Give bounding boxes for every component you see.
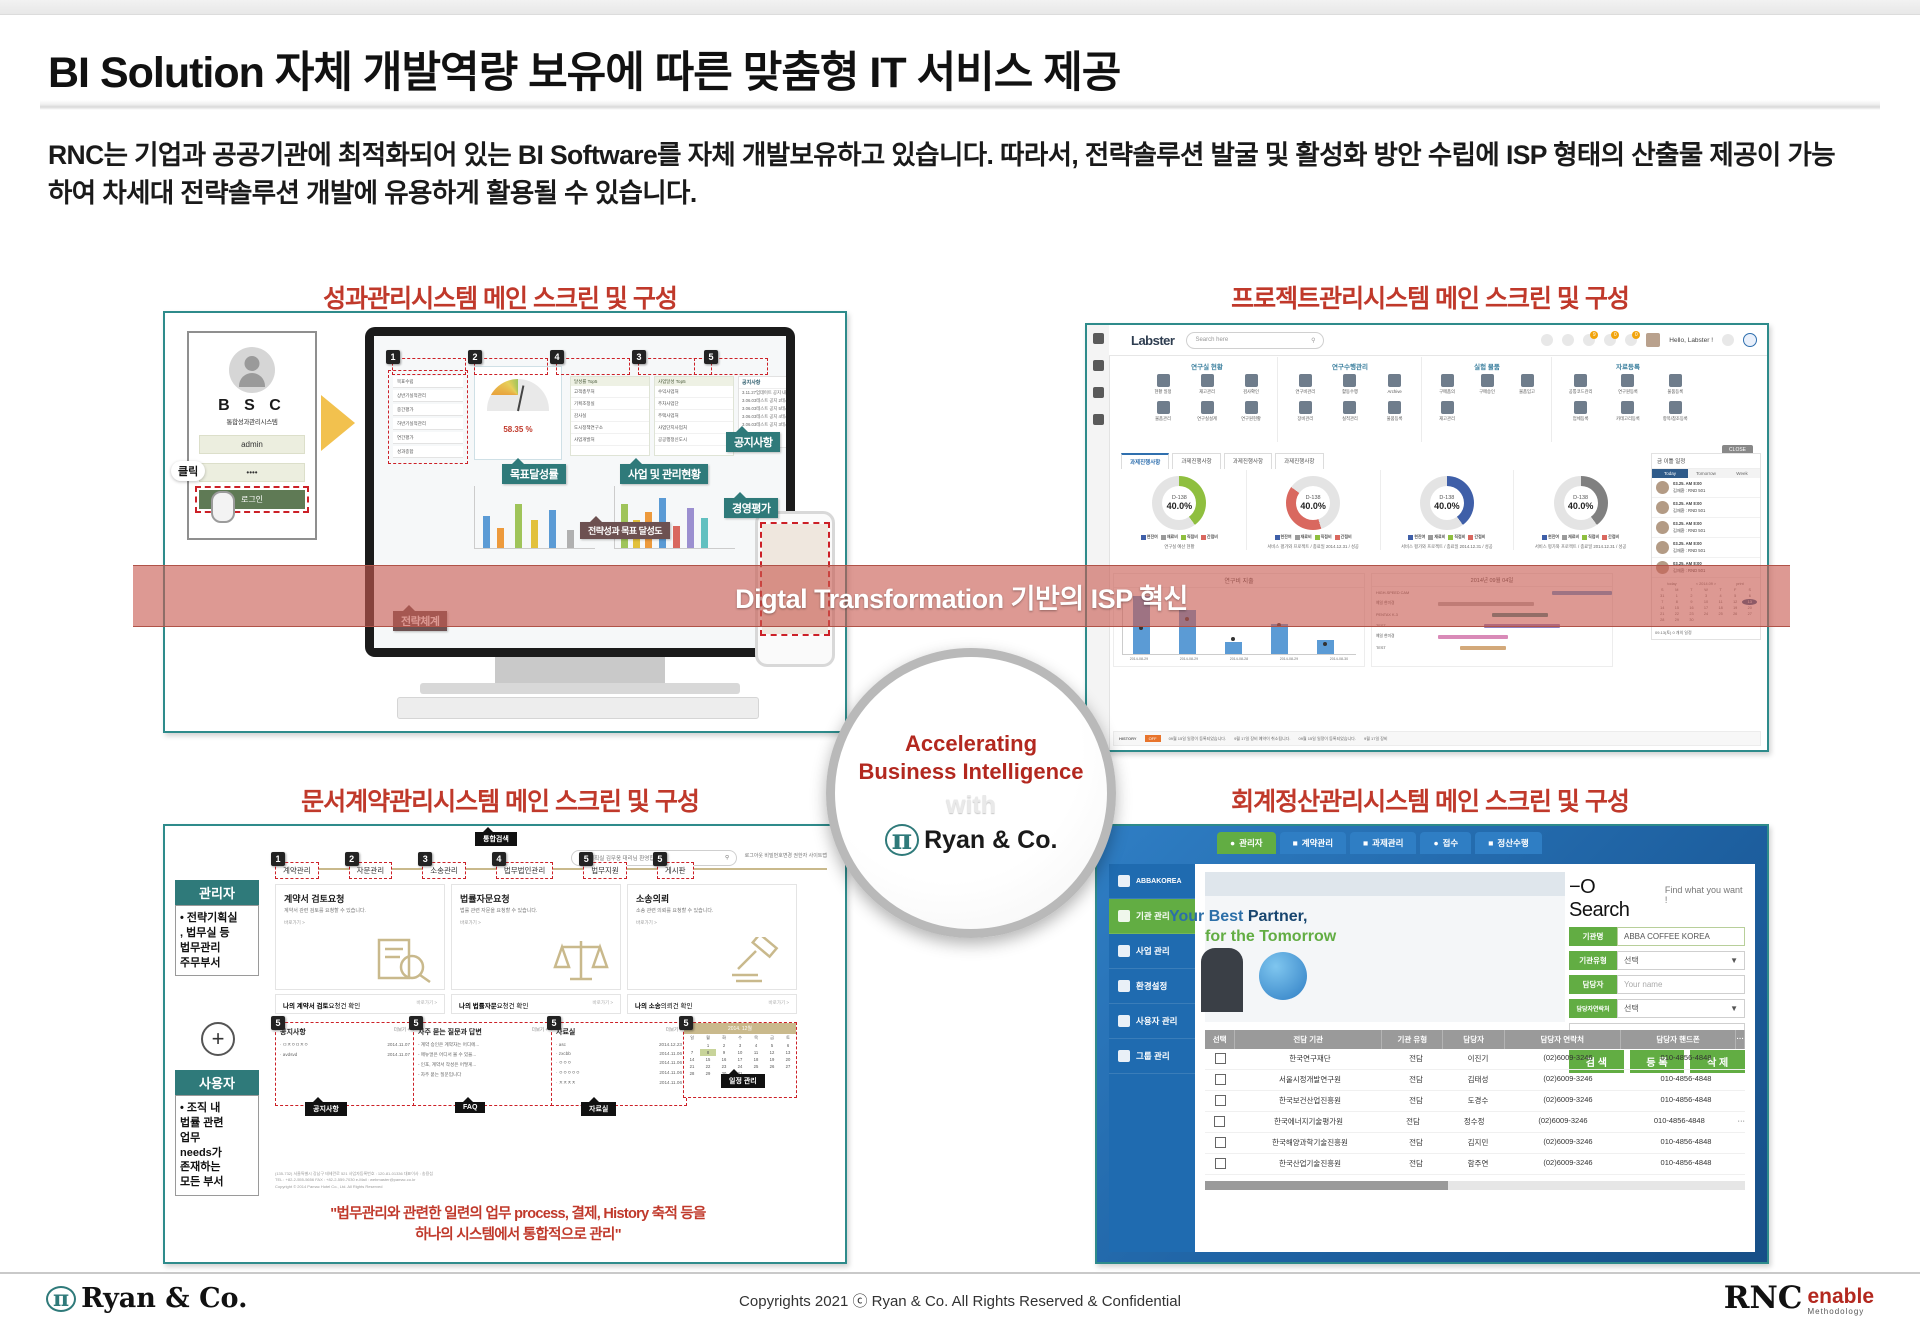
flow-arrow-icon <box>321 395 355 451</box>
tube-icon <box>1245 374 1258 387</box>
org-icon <box>1118 910 1130 922</box>
tab-progress-2[interactable]: 과제진행사항 <box>1172 453 1220 469</box>
cart-icon[interactable] <box>1562 334 1574 346</box>
badge-with: with <box>946 791 996 820</box>
top-tabs[interactable]: ●관리자 ■계약관리 ■과제관리 ●접수 ■정산수행 <box>1217 832 1542 854</box>
badge-count: 0 <box>1632 331 1640 339</box>
nav-item[interactable]: 성과종합 <box>393 446 463 458</box>
plus-icon: + <box>201 1022 235 1056</box>
schedule-item[interactable]: 03.25. AM 8:00김재환 : RND 501 <box>1652 538 1760 558</box>
truck-icon <box>1521 374 1534 387</box>
badge-line1: Accelerating <box>905 731 1037 756</box>
legend-label: 간접비 <box>1474 534 1485 540</box>
center-badge: Accelerating Business Intelligence with … <box>826 648 1116 938</box>
service-card-advice[interactable]: 법률자문요청 법률 관련 자문을 요청할 수 있습니다. 바로가기 > <box>451 884 621 990</box>
clock-icon[interactable]: 9 <box>1583 334 1595 346</box>
card-more[interactable]: 바로가기 > <box>452 914 620 926</box>
menu-item[interactable]: 구매품의 <box>1430 374 1464 395</box>
person-icon <box>1343 374 1356 387</box>
service-card-litigation[interactable]: 소송의뢰 소송 관련 의뢰를 요청할 수 있습니다. 바로가기 > <box>627 884 797 990</box>
top5-table-b: 사업달성 Top5 수익사업처 주차사업단 주택사업처 사업단지사업처 공공행정… <box>654 376 734 456</box>
methodology-text: Methodology <box>1807 1307 1864 1316</box>
tag-schedule-mgmt: 일정 관리 <box>721 1074 765 1088</box>
notice-row[interactable]: 3.06.03테스트 공지 4테스트 공지 4변합니다. <box>739 413 786 421</box>
field-label: 담당자 <box>1569 975 1617 994</box>
card-desc: 법률 관련 자문을 요청할 수 있습니다. <box>452 907 620 914</box>
category-icon <box>1621 401 1634 414</box>
menu-item[interactable]: 물품등록 <box>1378 401 1412 422</box>
tab-reception[interactable]: ●접수 <box>1420 832 1471 854</box>
notice-row[interactable]: 3.11.27업데이트 공지 내용을 변경한 입니다. <box>739 389 786 397</box>
contact-select[interactable]: 선택▼ <box>1617 999 1745 1018</box>
menu-label: 카테고리등록 <box>1611 416 1645 422</box>
building-icon <box>1245 401 1258 414</box>
notice-title: 공지사항 <box>739 377 786 389</box>
search-field-manager[interactable]: 담당자 Your name <box>1569 975 1745 994</box>
menu-group-lab-status: 연구실 현황 현황 일정 재고관리 검사확인 물품관리 연구실설계 연구원현황 <box>1137 357 1278 442</box>
step-badge: 4 <box>492 852 506 866</box>
admin-box: 관리자 • 전략기획실 , 법무실 등 법무관리 주무부서 <box>175 880 259 976</box>
screenshot-accounting-system: ●관리자 ■계약관리 ■과제관리 ●접수 ■정산수행 ABBAKOREA 기관 … <box>1095 824 1769 1264</box>
person-add-icon <box>1621 374 1634 387</box>
footer-copyright: Copyrights 2021 ⓒ Ryan & Co. All Rights … <box>0 1290 1920 1311</box>
tag-resources: 자료실 <box>581 1102 616 1116</box>
menu-item[interactable]: 물품등록 <box>1658 374 1692 395</box>
menu-label: 연구실설계 <box>1190 416 1224 422</box>
kpi-gauge-widget: 58.35 % <box>474 366 562 460</box>
summary-quote: "법무관리와 관련한 일련의 업무 process, 결제, History 축… <box>205 1204 831 1246</box>
top-strip <box>0 0 1920 15</box>
item-time: 03.25. AM 8:00 <box>1673 541 1702 546</box>
menu-label: 구매승인 <box>1470 389 1504 395</box>
gantt-row: 예일 현미경 <box>1372 631 1612 642</box>
menu-item[interactable]: 물품관리 <box>1146 401 1180 422</box>
tag-notice: 공지사항 <box>305 1102 347 1116</box>
title-divider <box>40 100 1880 110</box>
notice-row[interactable]: 3.06.03테스트 공지 2테스트 공지 2변합니다. <box>739 397 786 405</box>
doc-nav[interactable]: 1계약관리 2자문관리 3소송관리 4법무법인관리 5법무지원 5게시판 <box>275 862 694 879</box>
app-header: Labster Search here ⚲ 9 0 0 Hello, Labst… <box>1109 325 1767 356</box>
globe-icon <box>1259 952 1307 1000</box>
item-time: 03.25. AM 8:00 <box>1673 481 1702 486</box>
x-tick: 2014-08-30 <box>1330 657 1348 661</box>
username-input[interactable]: admin <box>199 435 305 454</box>
donut-legend: 현잔여 재료비 직접비 간접비 <box>1247 534 1380 540</box>
admin-box-body: • 전략기획실 , 법무실 등 법무관리 주무부서 <box>175 905 259 976</box>
chevron-down-icon[interactable] <box>1722 334 1734 346</box>
legend-label: 간접비 <box>1341 534 1352 540</box>
nav-slot[interactable]: 3소송관리 <box>422 862 466 879</box>
clock-icon <box>1343 401 1356 414</box>
history-toggle[interactable]: OFF <box>1145 735 1161 742</box>
list-item[interactable]: · ㅇㅇㅇ2014.11.06 <box>556 1058 682 1068</box>
table-row[interactable]: 한국에너지기술평가원전담정수정(02)6009-3246010-4856-484… <box>1205 1112 1745 1133</box>
admin-box-title: 관리자 <box>175 880 259 905</box>
nav-item[interactable]: 목표수립 <box>393 376 463 388</box>
menu-item[interactable]: 재고관리 <box>1430 401 1464 422</box>
history-bar: HISTORY OFF 09월 15일 일정이 등록되었습니다. 9월 17일 … <box>1113 731 1761 746</box>
group-title: 연구수행관리 <box>1279 361 1421 371</box>
legend-label: 재료비 <box>1167 534 1178 540</box>
chevron-down-icon[interactable]: ▼ <box>1730 956 1738 965</box>
legend-label: 현잔여 <box>1147 534 1158 540</box>
schedule-tabs[interactable]: Today Tomorrow Week <box>1652 469 1760 478</box>
sidebar-item-account[interactable]: ABBAKOREA <box>1109 864 1195 899</box>
bsc-brand-sub: 통합성과관리시스템 <box>189 416 315 426</box>
left-rail[interactable] <box>1087 325 1110 750</box>
tag-mgmt-eval: 경영평가 <box>724 498 778 518</box>
calendar-dow-row: 일월 화수 목금 토 <box>684 1034 796 1042</box>
table-row: 주택사업처 <box>655 410 733 422</box>
list-item[interactable]: - 인포, 계약서 작성은 어떻게... <box>418 1060 548 1070</box>
left-nav-list[interactable]: 목표수립 상반기실적관리 중간평가 하반기실적관리 연간평가 성과종합 <box>388 370 468 464</box>
horizontal-scrollbar[interactable] <box>1205 1181 1745 1190</box>
card-title-bold: 소송 <box>636 894 653 904</box>
table-row: 사업개발처 <box>571 434 649 446</box>
nav-item[interactable]: 상반기실적관리 <box>393 390 463 402</box>
calendar-week[interactable]: 78910111213 <box>684 1049 796 1056</box>
legend-label: 직접비 <box>1588 534 1599 540</box>
home-icon[interactable] <box>1743 333 1757 347</box>
list-item[interactable]: · ㅁㅈㅇㅁㅈㅇ2014.11.07 <box>280 1040 410 1050</box>
cursor-icon <box>211 491 235 523</box>
chevron-down-icon[interactable]: ▼ <box>1730 1004 1738 1013</box>
badge-count: 9 <box>1590 331 1598 339</box>
tab-settlement[interactable]: ■정산수행 <box>1475 832 1541 854</box>
menu-item[interactable]: 연구원현황 <box>1234 401 1268 422</box>
search-field-org[interactable]: 기관명 ABBA COFFEE KOREA <box>1569 927 1745 946</box>
badge-tagline: Accelerating Business Intelligence <box>859 730 1084 785</box>
group-title: 연구실 현황 <box>1137 361 1277 371</box>
row-checkbox[interactable] <box>1214 1116 1225 1127</box>
history-item: 9월 17일 장비 <box>1364 736 1388 742</box>
tab-progress-1[interactable]: 과제진행사항 <box>1121 453 1169 469</box>
bluetooth-icon[interactable] <box>1093 387 1104 398</box>
col-mobile: 담당자 핸드폰 <box>1621 1030 1737 1049</box>
list-more[interactable]: 더보기 + <box>532 1027 548 1037</box>
table-title: 사업달성 Top5 <box>655 377 733 386</box>
org-type-select[interactable]: 선택▼ <box>1617 951 1745 970</box>
avatar-icon <box>229 347 275 393</box>
list-item[interactable]: · zxcbb2014.11.06 <box>556 1049 682 1058</box>
tab-today[interactable]: Today <box>1652 469 1688 478</box>
table-row: 도시정책연구소 <box>571 422 649 434</box>
tab-label: 과제관리 <box>1372 837 1403 849</box>
table-row[interactable]: 서울시정개발연구원전담김태성(02)6009-3246010-4856-4848 <box>1205 1070 1745 1091</box>
field-label: 담당자연락처 <box>1569 999 1617 1018</box>
menu-item[interactable]: 카테고리등록 <box>1611 401 1645 422</box>
tab-label: 접수 <box>1443 837 1459 849</box>
nav-slot[interactable]: 4법무법인관리 <box>496 862 553 879</box>
sidebar-item-business[interactable]: 사업 관리 <box>1109 934 1195 969</box>
col-more: ··· <box>1736 1030 1745 1049</box>
row-checkbox[interactable] <box>1215 1053 1226 1064</box>
donut-caption: 연구실 예산 현황 <box>1113 544 1246 550</box>
gear-icon[interactable] <box>1093 333 1104 344</box>
menu-item[interactable]: 연구원등록 <box>1611 374 1645 395</box>
cup-icon[interactable] <box>1093 414 1104 425</box>
tab-tomorrow[interactable]: Tomorrow <box>1688 469 1724 478</box>
step-badge-5: 5 <box>704 350 718 364</box>
item-who: 김재환 : RND 501 <box>1673 488 1705 493</box>
card-title-light: 요청 <box>328 894 345 904</box>
group-icon <box>1118 1050 1130 1062</box>
donut-card: D-138 40.0% 현잔여 재료비 직접비 간접비 서비스 평가와 프로젝트… <box>1381 470 1515 550</box>
step-badge-2: 2 <box>468 350 482 364</box>
donut-chart: D-138 40.0% <box>1420 476 1474 530</box>
header-actions: 9 0 0 Hello, Labster ! <box>1541 333 1757 347</box>
folder-icon <box>1299 374 1312 387</box>
enable-text: enable <box>1807 1286 1874 1307</box>
mycard-title: 나의 계약서 검토 <box>283 1003 328 1010</box>
row-checkbox[interactable] <box>1215 1137 1226 1148</box>
nav-slot[interactable]: 5게시판 <box>657 862 694 879</box>
menu-item[interactable]: 연구비관리 <box>1288 374 1322 395</box>
search-subtitle: Find what you want ! <box>1665 885 1745 905</box>
screenshot-performance-system: B S C 통합성과관리시스템 admin •••• 로그인 클릭 1 2 4 … <box>163 311 847 733</box>
tab-label: 계약관리 <box>1302 837 1333 849</box>
donut-chart: D-138 40.0% <box>1152 476 1206 530</box>
search-field-contact[interactable]: 담당자연락처 선택▼ <box>1569 999 1745 1018</box>
password-input[interactable]: •••• <box>199 463 305 482</box>
list-resources: 자료실더보기 + · asc2014.12.23 · zxcbb2014.11.… <box>551 1022 687 1106</box>
sidebar-label: 기관 관리 <box>1136 910 1170 922</box>
box-icon <box>1388 401 1401 414</box>
list-item[interactable]: · asc2014.12.23 <box>556 1040 682 1049</box>
step-badge: 1 <box>271 852 285 866</box>
menu-item[interactable]: 연구실설계 <box>1190 401 1224 422</box>
avatar <box>1656 521 1669 534</box>
tab-progress-3[interactable]: 과제진행사항 <box>1224 453 1272 469</box>
footer-divider <box>0 1272 1920 1274</box>
note-add-icon <box>1669 401 1682 414</box>
tools-icon <box>1299 401 1312 414</box>
bell-icon[interactable]: 0 <box>1625 334 1637 346</box>
search-icon[interactable]: ⚲ <box>725 855 729 861</box>
sidebar-label: ABBAKOREA <box>1136 878 1182 885</box>
step-badge: 5 <box>679 1016 693 1030</box>
card-title: 법률자문요청 <box>452 885 620 907</box>
legend-label: 현잔여 <box>1548 534 1559 540</box>
list-item[interactable]: · ㅈㅈㅈㅈ2014.11.06 <box>556 1078 682 1088</box>
donut-legend: 현잔여 재료비 직접비 간접비 <box>1514 534 1647 540</box>
badge-line2: Business Intelligence <box>859 759 1084 784</box>
nav-item[interactable]: 연간평가 <box>393 432 463 444</box>
step-badge: 5 <box>409 1016 423 1030</box>
slide-root: BI Solution 자체 개발역량 보유에 따른 맞춤형 IT 서비스 제공… <box>0 0 1920 1326</box>
search-icon[interactable]: ⚲ <box>1311 337 1315 344</box>
tab-week[interactable]: Week <box>1724 469 1760 478</box>
menu-item[interactable]: Archive <box>1378 374 1412 395</box>
card-desc: 소송 관련 의뢰를 요청할 수 있습니다. <box>628 907 796 914</box>
tab-admin[interactable]: ●관리자 <box>1217 832 1276 854</box>
screenshot-document-system: 통합검색 경영기획실 김무웅 대리님 환영합니다 ⚲ 로그아웃 비밀번호변경 권… <box>163 824 847 1264</box>
list-item[interactable]: · ㅇㅇㅇㅇㅇ2014.11.06 <box>556 1068 682 1078</box>
calendar-week[interactable]: 14151617181920 <box>684 1056 796 1063</box>
list-item[interactable]: - 자주 묻는 질문입니다 <box>418 1070 548 1080</box>
list-more[interactable]: 더보기 + <box>394 1027 410 1037</box>
card-title: 소송의뢰 <box>628 885 796 907</box>
table-row[interactable]: 한국보건산업진흥원전담도경수(02)6009-3246010-4856-4848 <box>1205 1091 1745 1112</box>
col-select: 선택 <box>1205 1030 1235 1049</box>
legend-label: 직접비 <box>1321 534 1332 540</box>
mycard-advice[interactable]: 나의 법률자문요청건 확인 바로가기 > <box>451 994 621 1014</box>
org-name-input[interactable]: ABBA COFFEE KOREA <box>1617 927 1745 946</box>
donut-chart: D-138 40.0% <box>1554 476 1608 530</box>
mycard-litigation[interactable]: 나의 소송의뢰건 확인 바로가기 > <box>627 994 797 1014</box>
menu-label: 연구원현황 <box>1234 416 1268 422</box>
badge-brand-text: Ryan & Co. <box>924 826 1057 855</box>
user-box-body: • 조직 내 법률 관련 업무 needs가 존재하는 모든 부서 <box>175 1095 259 1196</box>
table-row[interactable]: 한국연구재단전담이진기(02)6009-3246010-4856-4848 <box>1205 1049 1745 1070</box>
donut-percent: 40.0% <box>1167 501 1193 511</box>
legend-label: 재료비 <box>1301 534 1312 540</box>
mycard-more[interactable]: 바로가기 > <box>593 1000 613 1010</box>
list-item[interactable]: - 계약 승인은 계약자는 어디에... <box>418 1040 548 1050</box>
nav-item[interactable]: 하반기실적관리 <box>393 418 463 430</box>
menu-item[interactable]: 구매승인 <box>1470 374 1504 395</box>
briefcase-icon <box>1118 945 1130 957</box>
project-tabs[interactable]: 과제진행사항 과제진행사항 과제진행사항 과제진행사항 <box>1121 453 1324 469</box>
card-title-bold: 법률자문 <box>460 894 493 904</box>
table-row: 고객총무처 <box>571 386 649 398</box>
table-row: 수익사업처 <box>655 386 733 398</box>
mycard-more[interactable]: 바로가기 > <box>417 1000 437 1010</box>
mycard-more[interactable]: 바로가기 > <box>769 1000 789 1010</box>
list-item[interactable]: - 매뉴얼은 어디서 볼 수 있을... <box>418 1050 548 1060</box>
caption-accounting: 회계정산관리시스템 메인 스크린 및 구성 <box>1080 782 1780 818</box>
mycard-contract[interactable]: 나의 계약서 검토요청건 확인 바로가기 > <box>275 994 445 1014</box>
menu-item[interactable]: 업체등록 <box>1564 401 1598 422</box>
nav-slot[interactable]: 5법무지원 <box>583 862 627 879</box>
table-header-row: 선택 전담 기관 기관 유형 담당자 담당자 연락처 담당자 핸드폰 ··· <box>1205 1030 1745 1049</box>
list-item[interactable]: · avdsvd2014.11.07 <box>280 1050 410 1059</box>
avatar <box>1656 501 1669 514</box>
menu-item[interactable]: 활동수행 <box>1333 374 1367 395</box>
donut-legend: 현잔여 재료비 직접비 간접비 <box>1381 534 1514 540</box>
donut-percent: 40.0% <box>1300 501 1326 511</box>
tab-contract[interactable]: ■계약관리 <box>1280 832 1346 854</box>
nav-slot[interactable]: 2자문관리 <box>349 862 393 879</box>
menu-item[interactable]: 재고관리 <box>1190 374 1224 395</box>
menu-label: 물품등록 <box>1658 389 1692 395</box>
notice-row[interactable]: 3.06.03테스트 공지 5테스트 공지 5변합니다. <box>739 405 786 413</box>
tag-notice: 공지사항 <box>726 432 780 452</box>
calendar-week[interactable]: 21222324252627 <box>684 1063 796 1070</box>
scales-icon <box>552 937 610 983</box>
sidebar-item-groups[interactable]: 그룹 관리 <box>1109 1039 1195 1074</box>
caption-project: 프로젝트관리시스템 메인 스크린 및 구성 <box>1080 279 1780 315</box>
click-callout: 클릭 <box>171 461 205 481</box>
menu-label: 장비관리 <box>1288 416 1322 422</box>
item-who: 김재환 : RND 501 <box>1673 508 1705 513</box>
group-title: 자료등록 <box>1553 361 1703 371</box>
row-checkbox[interactable] <box>1215 1095 1226 1106</box>
lock-icon[interactable] <box>1541 334 1553 346</box>
utility-links[interactable]: 로그아웃 비밀번호변경 권한자 사이트맵 <box>745 852 827 859</box>
person-illustration <box>1201 948 1243 1012</box>
sidebar-item-settings[interactable]: 환경설정 <box>1109 969 1195 1004</box>
message-icon[interactable]: 0 <box>1604 334 1616 346</box>
sidebar-item-users[interactable]: 사용자 관리 <box>1109 1004 1195 1039</box>
step-badge-4: 4 <box>550 350 564 364</box>
caption-document: 문서계약관리시스템 메인 스크린 및 구성 <box>150 782 850 818</box>
search-title: −O Search <box>1569 876 1658 922</box>
step-badge-3: 3 <box>632 350 646 364</box>
card-more[interactable]: 바로가기 > <box>628 914 796 926</box>
menu-item[interactable]: 실적관리 <box>1333 401 1367 422</box>
nav-slot[interactable]: 1계약관리 <box>275 862 319 879</box>
search-field-orgtype[interactable]: 기관유형 선택▼ <box>1569 951 1745 970</box>
schedule-item[interactable]: 03.25. AM 8:00김재환 : RND 501 <box>1652 518 1760 538</box>
pen-icon[interactable] <box>1093 360 1104 371</box>
menu-item[interactable]: 장비관리 <box>1288 401 1322 422</box>
manager-input[interactable]: Your name <box>1617 975 1745 994</box>
menu-item[interactable]: 검사확인 <box>1234 374 1268 395</box>
menu-item[interactable]: 현황 일정 <box>1146 374 1180 395</box>
nav-item[interactable]: 중간평가 <box>393 404 463 416</box>
tab-task[interactable]: ■과제관리 <box>1350 832 1416 854</box>
chart-x-labels: 2014-08-29 2014-08-29 2014-08-28 2014-08… <box>1114 657 1364 661</box>
table-row[interactable]: 한국산업기술진흥원전담함주연(02)6009-3246010-4856-4848 <box>1205 1154 1745 1175</box>
table-row: 감사실 <box>571 410 649 422</box>
edit-icon: ■ <box>1293 838 1298 848</box>
menu-item[interactable]: 물품입고 <box>1510 374 1544 395</box>
sidebar-label: 그룹 관리 <box>1136 1050 1170 1062</box>
tag-business-status: 사업 및 관리현황 <box>620 464 708 484</box>
menu-label: 실적관리 <box>1333 416 1367 422</box>
field-label: 기관유형 <box>1569 951 1617 970</box>
calendar-week[interactable]: 123456 <box>684 1042 796 1049</box>
group-title: 실험 물품 <box>1423 361 1551 371</box>
donut-caption: 서비스 평가와 프로젝트 / 종료일 2014.12.31 / 성공 <box>1514 544 1647 550</box>
field-label: 기관명 <box>1569 927 1617 946</box>
donut-card: D-138 40.0% 현잔여 재료비 직접비 간접비 연구실 예산 현황 <box>1113 470 1247 550</box>
donut-caption: 서비스 평가와 프로젝트 / 종료일 2014.12.31 / 성공 <box>1381 544 1514 550</box>
panel-title: 금 이틀 일정 <box>1652 454 1760 469</box>
search-header: −O Search Find what you want ! <box>1569 876 1745 922</box>
x-tick: 2014-08-29 <box>1280 657 1298 661</box>
avatar[interactable] <box>1646 333 1660 347</box>
row-checkbox[interactable] <box>1215 1074 1226 1085</box>
schedule-item[interactable]: 03.25. AM 8:00김재환 : RND 501 <box>1652 498 1760 518</box>
table-row: 사업단지사업처 <box>655 422 733 434</box>
cal-footer: 09.13(토) 0 개의 일정 <box>1655 626 1757 636</box>
menu-label: 구매품의 <box>1430 389 1464 395</box>
gauge-value: 58.35 % <box>475 425 561 434</box>
menu-label: 항목/참조등록 <box>1658 416 1692 422</box>
menu-label: 검사확인 <box>1234 389 1268 395</box>
legend-label: 재료비 <box>1568 534 1579 540</box>
menu-label: 공통코드관리 <box>1564 389 1598 395</box>
bsc-login-card: B S C 통합성과관리시스템 admin •••• 로그인 <box>187 331 317 540</box>
hero-banner <box>1205 872 1565 1022</box>
list-title: 자주 묻는 질문과 답변 <box>418 1027 482 1037</box>
table-row[interactable]: 한국해양과학기술진흥원전담김지민(02)6009-3246010-4856-48… <box>1205 1133 1745 1154</box>
card-desc: 계약서 관련 검토를 요청할 수 있습니다. <box>276 907 444 914</box>
service-card-contract[interactable]: 계약서 검토요청 계약서 관련 검토를 요청할 수 있습니다. 바로가기 > <box>275 884 445 990</box>
tab-progress-4[interactable]: 과제진행사항 <box>1275 453 1323 469</box>
menu-label: 물품관리 <box>1146 416 1180 422</box>
schedule-item[interactable]: 03.25. AM 8:00김재환 : RND 501 <box>1652 478 1760 498</box>
card-more[interactable]: 바로가기 > <box>276 914 444 926</box>
step-badge-1: 1 <box>386 350 400 364</box>
row-checkbox[interactable] <box>1215 1158 1226 1169</box>
menu-item[interactable]: 항목/참조등록 <box>1658 401 1692 422</box>
search-input[interactable]: Search here ⚲ <box>1186 332 1324 349</box>
sidebar-label: 사용자 관리 <box>1136 1015 1177 1027</box>
menu-item[interactable]: 공통코드관리 <box>1564 374 1598 395</box>
